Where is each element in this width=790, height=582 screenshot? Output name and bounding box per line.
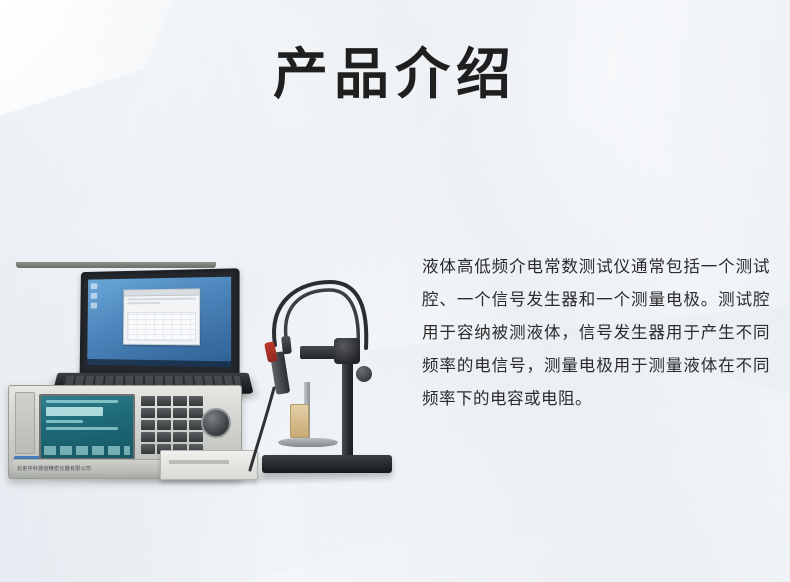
product-photo: 北京中科鼎创精密仪器有限公司	[0, 170, 420, 510]
fixture-adjust-knob	[356, 366, 372, 382]
intro-paragraph: 液体高低频介电常数测试仪通常包括一个测试腔、一个信号发生器和一个测量电极。测试腔…	[422, 250, 770, 415]
product-intro-page: 产品介绍	[0, 0, 790, 582]
liquid-sample-cell	[290, 404, 309, 438]
fixture-clamp	[334, 338, 360, 364]
fixture-base	[262, 455, 392, 473]
probe-connector-black	[281, 336, 292, 355]
electrode-plate	[278, 438, 338, 447]
page-title: 产品介绍	[0, 44, 790, 105]
